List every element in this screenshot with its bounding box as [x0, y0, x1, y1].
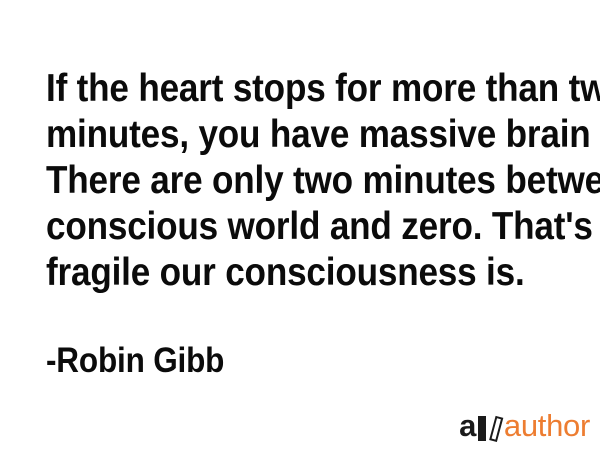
allauthor-logo[interactable]: a author	[459, 410, 590, 442]
quote-line-1: If the heart stops for more than two	[46, 66, 523, 112]
logo-word-author: author	[504, 410, 590, 442]
book-upright-icon	[478, 416, 486, 441]
book-leaning-icon	[489, 416, 503, 442]
quote-line-4: conscious world and zero. That's how	[46, 204, 523, 250]
two-books-icon	[477, 416, 503, 441]
quote-line-2: minutes, you have massive brain death.	[46, 112, 523, 158]
quote-card: If the heart stops for more than two min…	[0, 0, 600, 450]
quote-text: If the heart stops for more than two min…	[46, 66, 523, 296]
quote-line-3: There are only two minutes between our	[46, 158, 523, 204]
logo-letter-a: a	[459, 410, 476, 442]
quote-attribution: -Robin Gibb	[46, 341, 224, 381]
quote-line-5: fragile our consciousness is.	[46, 250, 523, 296]
